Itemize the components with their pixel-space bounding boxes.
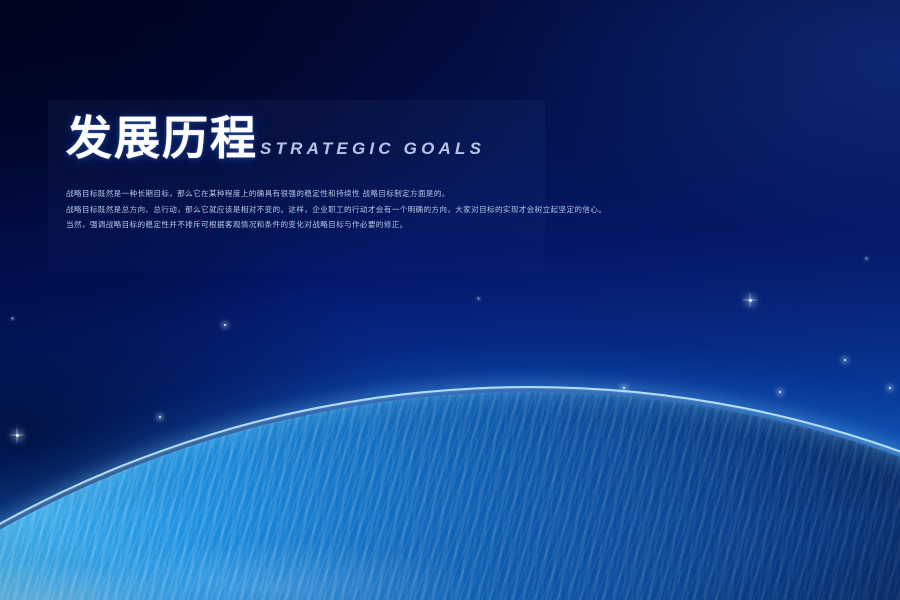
body-text-line: 战略目标既然是一种长期目标，那么它在某种程度上的确具有很强的稳定性和持续性 战略… — [66, 186, 726, 202]
body-text-line: 战略目标既然是总方向、总行动，那么它就应该是相对不变的。这样，企业职工的行动才会… — [66, 202, 726, 218]
atmosphere-rim-icon — [0, 386, 900, 600]
page-subtitle: STRATEGIC GOALS — [260, 139, 485, 162]
banner-image: 发展历程 STRATEGIC GOALS 战略目标既然是一种长期目标，那么它在某… — [0, 0, 900, 600]
earth-globe — [0, 0, 900, 600]
banner-body-text: 战略目标既然是一种长期目标，那么它在某种程度上的确具有很强的稳定性和持续性 战略… — [66, 186, 726, 233]
body-text-line: 当然，强调战略目标的稳定性并不排斥可根据客观情况和条件的变化对战略目标与作必要的… — [66, 217, 726, 233]
banner-heading: 发展历程 STRATEGIC GOALS — [66, 116, 485, 162]
page-title: 发展历程 — [66, 116, 258, 162]
